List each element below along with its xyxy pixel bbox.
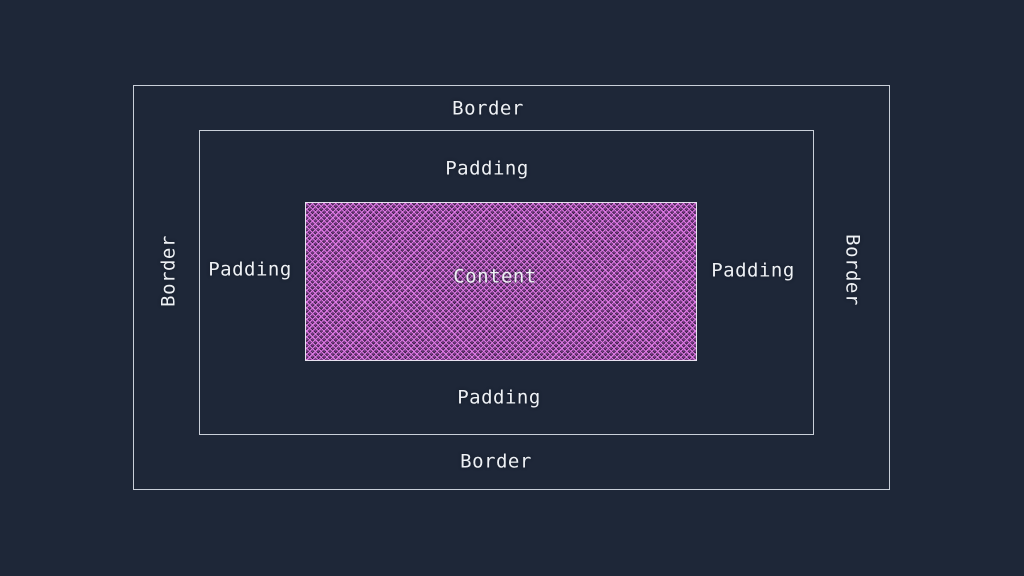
border-left-label: Border (160, 235, 179, 307)
padding-right-label: Padding (711, 262, 795, 281)
padding-bottom-label: Padding (457, 389, 541, 408)
border-right-label: Border (843, 234, 862, 306)
content-label: Content (453, 268, 537, 287)
border-top-label: Border (452, 100, 524, 119)
padding-left-label: Padding (208, 261, 292, 280)
padding-top-label: Padding (445, 160, 529, 179)
box-model-diagram: Border Border Border Border Padding Padd… (0, 0, 1024, 576)
border-bottom-label: Border (460, 453, 532, 472)
